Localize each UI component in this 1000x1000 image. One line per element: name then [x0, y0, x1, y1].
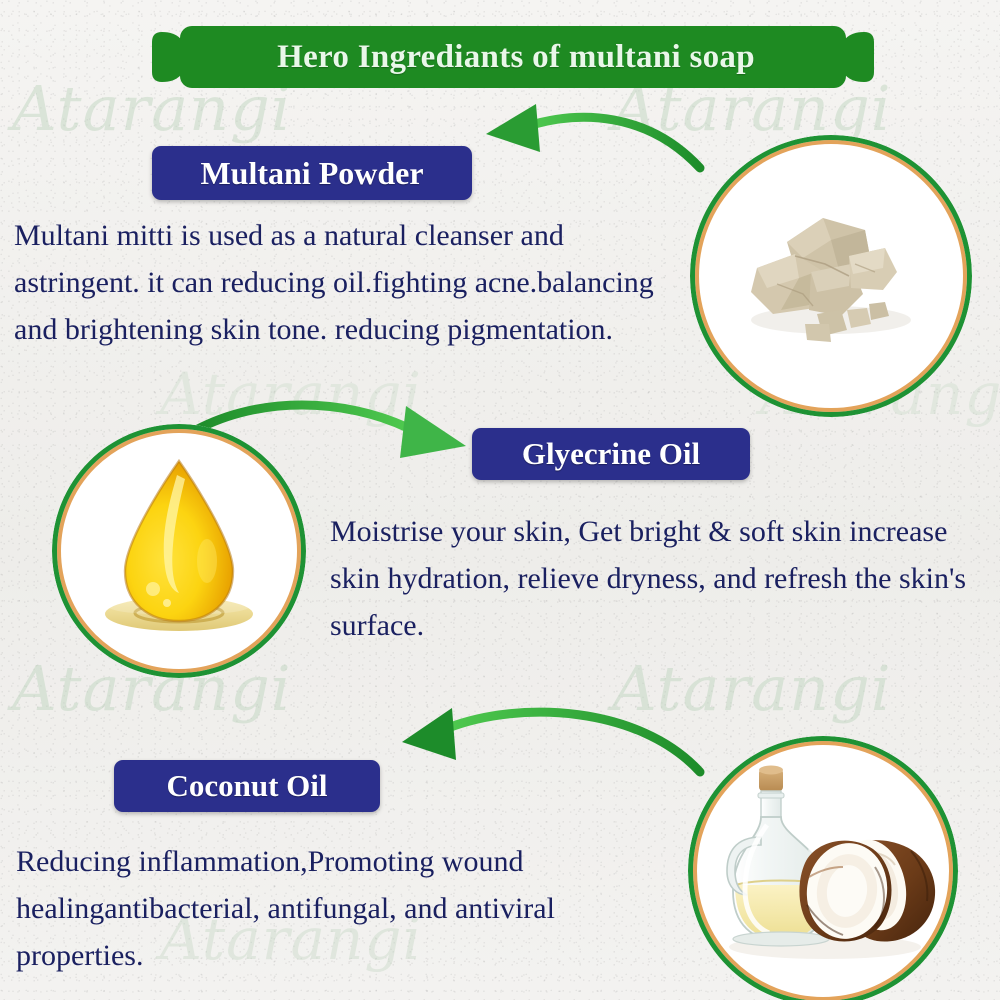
infographic-poster: Atarangi Atarangi Atarangi Atarangi Atar… — [0, 0, 1000, 1000]
circle-ring-outer — [688, 736, 958, 1000]
ingredient-image-multani-mitti — [690, 135, 972, 417]
ingredient-badge-coconut-oil: Coconut Oil — [114, 760, 380, 812]
badge-label: Multani Powder — [200, 155, 423, 192]
poster-title-text: Hero Ingrediants of multani soap — [152, 26, 874, 88]
badge-label: Coconut Oil — [166, 768, 327, 804]
ingredient-image-coconut-oil — [688, 736, 958, 1000]
poster-title-banner: Hero Ingrediants of multani soap — [152, 26, 874, 88]
ingredient-description-coconut-oil: Reducing inflammation,Promoting wound he… — [16, 838, 676, 979]
ingredient-image-glycerine-oil — [52, 424, 306, 678]
circle-ring-outer — [690, 135, 972, 417]
ingredient-badge-glyecrine-oil: Glyecrine Oil — [472, 428, 750, 480]
ingredient-description-glyecrine-oil: Moistrise your skin, Get bright & soft s… — [330, 508, 980, 649]
circle-ring-outer — [52, 424, 306, 678]
badge-label: Glyecrine Oil — [522, 436, 700, 472]
ingredient-description-multani-powder: Multani mitti is used as a natural clean… — [14, 212, 674, 353]
ingredient-badge-multani-powder: Multani Powder — [152, 146, 472, 200]
